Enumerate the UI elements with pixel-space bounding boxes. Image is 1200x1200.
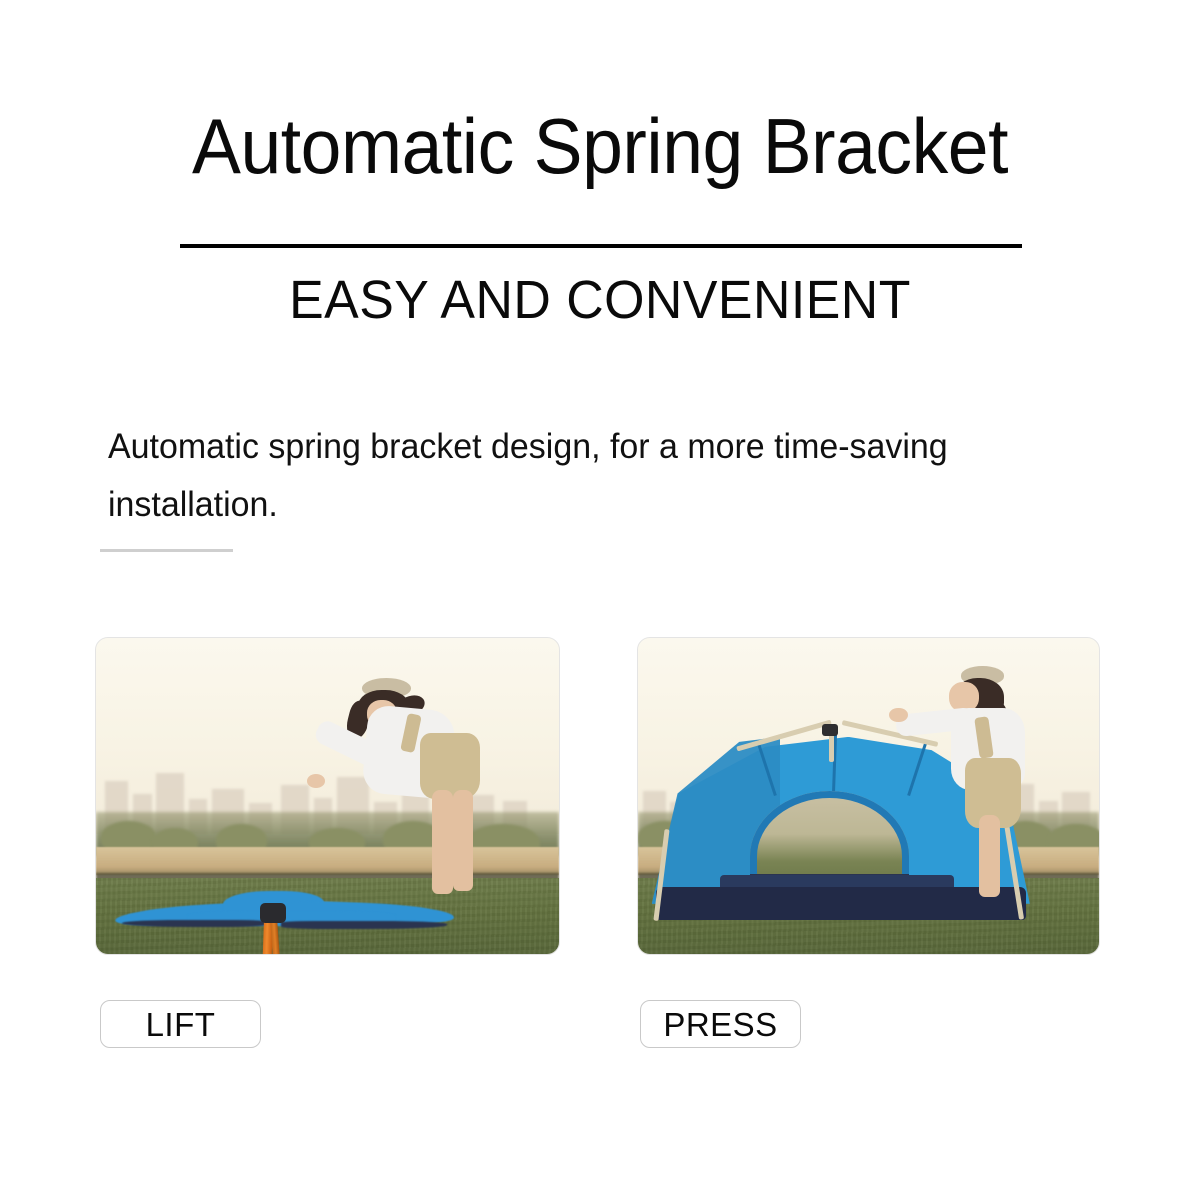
step-photo-lift [95, 637, 560, 955]
title-divider [180, 244, 1022, 248]
caption-lift-label: LIFT [146, 1008, 216, 1041]
description-divider [100, 549, 233, 552]
lift-scene [96, 638, 559, 954]
product-feature-banner: Automatic Spring Bracket EASY AND CONVEN… [0, 0, 1200, 1200]
page-subtitle: EASY AND CONVENIENT [24, 268, 1176, 332]
step-photo-press [637, 637, 1100, 955]
caption-press-label: PRESS [663, 1008, 777, 1041]
caption-press: PRESS [640, 1000, 801, 1048]
description-text: Automatic spring bracket design, for a m… [108, 418, 981, 534]
page-title: Automatic Spring Bracket [36, 98, 1164, 194]
press-scene [638, 638, 1099, 954]
person-pressing [638, 638, 1099, 954]
person-lifting [96, 638, 559, 954]
caption-lift: LIFT [100, 1000, 261, 1048]
